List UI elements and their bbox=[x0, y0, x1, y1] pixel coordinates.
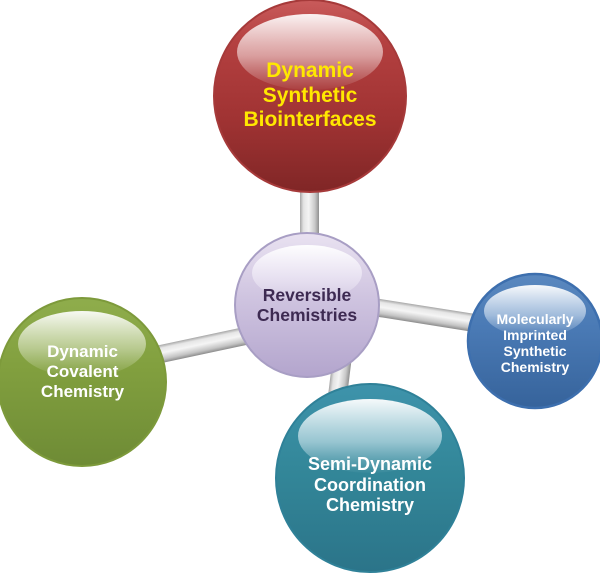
link-hub-right bbox=[365, 297, 482, 333]
node-molecularly-imprinted-synthetic-chemistry[interactable] bbox=[468, 274, 600, 408]
node-dynamic-covalent-chemistry[interactable] bbox=[0, 298, 166, 466]
diagram-canvas bbox=[0, 0, 600, 580]
node-reversible-chemistries[interactable] bbox=[235, 233, 379, 377]
node-dynamic-synthetic-biointerfaces[interactable] bbox=[214, 0, 406, 192]
node-semi-dynamic-coordination-chemistry[interactable] bbox=[276, 384, 464, 572]
concept-diagram: Dynamic Synthetic Biointerfaces Reversib… bbox=[0, 0, 600, 580]
